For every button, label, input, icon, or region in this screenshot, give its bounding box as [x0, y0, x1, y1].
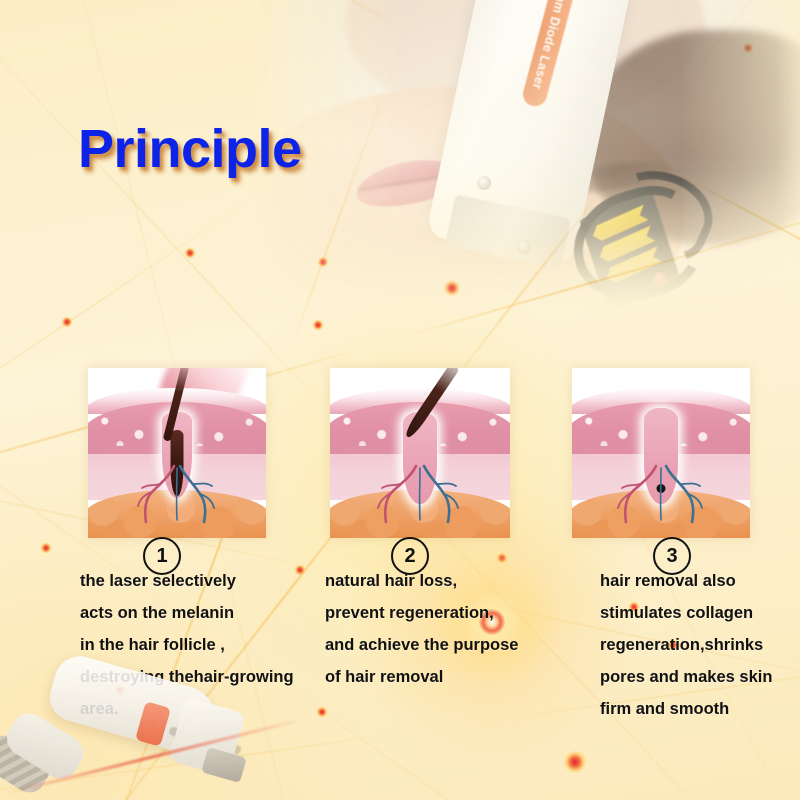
glow-dot: [62, 317, 73, 328]
step-caption-2: natural hair loss, prevent regeneration,…: [325, 565, 587, 693]
handpiece-tip: [201, 747, 247, 783]
skin-diagram-panel-3: [572, 368, 750, 538]
page-title: Principle: [78, 118, 302, 180]
caption-line: pores and makes skin: [600, 661, 800, 693]
glow-dot: [564, 751, 586, 773]
diagram-blood-vessels: [330, 464, 510, 526]
caption-line: the laser selectively: [80, 565, 340, 597]
caption-line: hair removal also: [600, 565, 800, 597]
caption-line: regeneration,shrinks: [600, 629, 800, 661]
diagram-blood-vessels: [88, 464, 266, 526]
glow-dot: [497, 553, 508, 564]
caption-line: in the hair follicle ,: [80, 629, 340, 661]
diode-laser-treatment-photo: nm Diode Laser: [255, 0, 800, 314]
caption-line: firm and smooth: [600, 693, 800, 725]
photo-fade-overlay: [255, 0, 800, 314]
step-caption-3: hair removal also stimulates collagen re…: [600, 565, 800, 725]
skin-diagram-panel-1: [88, 368, 266, 538]
glow-dot: [313, 320, 324, 331]
caption-line: natural hair loss,: [325, 565, 587, 597]
caption-line: stimulates collagen: [600, 597, 800, 629]
diagram-blood-vessels: [572, 464, 750, 526]
diagram-panel-row: [0, 368, 800, 540]
glow-dot: [185, 248, 196, 259]
caption-line: of hair removal: [325, 661, 587, 693]
laser-handpiece-illustration: [0, 660, 260, 800]
caption-line: prevent regeneration,: [325, 597, 587, 629]
infographic-canvas: nm Diode Laser Principle: [0, 0, 800, 800]
caption-line: and achieve the purpose: [325, 629, 587, 661]
caption-line: acts on the melanin: [80, 597, 340, 629]
glow-dot: [41, 543, 52, 554]
skin-diagram-panel-2: [330, 368, 510, 538]
